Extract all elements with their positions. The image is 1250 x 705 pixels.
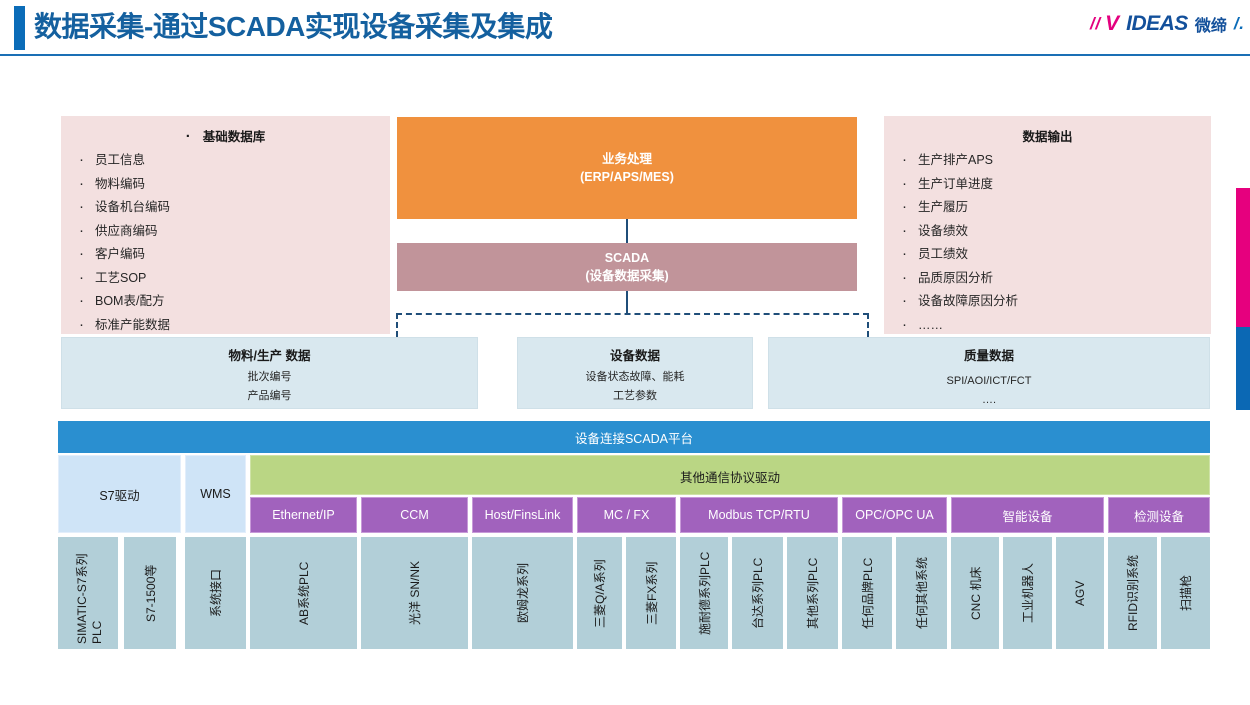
- device-cell-koyo-sn-nk[interactable]: 光洋 SN/NK: [361, 537, 468, 649]
- protocol-cell-mc-fx[interactable]: MC / FX: [577, 497, 676, 533]
- device-cell-mitsubishi-qa[interactable]: 三菱Q/A系列: [577, 537, 622, 649]
- equipment-data-title: 设备数据: [610, 345, 660, 364]
- protocol-label: Ethernet/IP: [272, 508, 335, 522]
- scada-box: SCADA (设备数据采集): [397, 243, 857, 291]
- list-item: ……: [884, 314, 1211, 338]
- data-output-list: 生产排产APS 生产订单进度 生产履历 设备绩效 员工绩效 品质原因分析 设备故…: [884, 149, 1211, 337]
- list-item: 设备绩效: [884, 220, 1211, 244]
- protocol-label: 检测设备: [1134, 506, 1184, 525]
- device-cell-rfid[interactable]: RFID识别系统: [1108, 537, 1157, 649]
- device-cell-ab-plc[interactable]: AB系统PLC: [250, 537, 357, 649]
- device-label: CNC 机床: [967, 566, 984, 619]
- base-database-title: 基础数据库: [61, 126, 390, 145]
- device-cell-other-plc[interactable]: 其他系列PLC: [787, 537, 838, 649]
- device-label: RFID识别系统: [1124, 555, 1141, 631]
- protocol-cell-smart-device[interactable]: 智能设备: [951, 497, 1104, 533]
- protocol-cell-inspection-device[interactable]: 检测设备: [1108, 497, 1210, 533]
- brand-name-cn: 微缔: [1195, 12, 1227, 36]
- list-item: 标准产能数据: [61, 314, 390, 338]
- brand-v-icon: V: [1105, 12, 1119, 36]
- protocol-cell-opc[interactable]: OPC/OPC UA: [842, 497, 947, 533]
- device-cell-schneider-plc[interactable]: 施耐德系列PLC: [680, 537, 728, 649]
- protocol-label: OPC/OPC UA: [855, 508, 934, 522]
- data-output-title: 数据输出: [884, 126, 1211, 145]
- device-cell-industrial-robot[interactable]: 工业机器人: [1003, 537, 1052, 649]
- device-label: 工业机器人: [1019, 563, 1036, 623]
- protocol-label: MC / FX: [604, 508, 650, 522]
- material-production-data-title: 物料/生产 数据: [229, 345, 311, 364]
- list-item: 员工绩效: [884, 243, 1211, 267]
- edge-accent-blue: [1236, 327, 1250, 410]
- header-accent-bar: [14, 6, 25, 50]
- connector-business-scada: [626, 219, 628, 243]
- list-item: 客户编码: [61, 243, 390, 267]
- device-label: 光洋 SN/NK: [406, 561, 423, 625]
- list-item: 供应商编码: [61, 220, 390, 244]
- device-label: 欧姆龙系列: [514, 563, 531, 623]
- device-cell-any-brand-plc[interactable]: 任何品牌PLC: [842, 537, 892, 649]
- list-item: 物料编码: [61, 173, 390, 197]
- connector-scada-bracket: [626, 291, 628, 315]
- device-cell-simatic-s7[interactable]: SIMATIC-S7系列PLC: [58, 537, 118, 649]
- list-item: 生产订单进度: [884, 173, 1211, 197]
- device-label: 施耐德系列PLC: [696, 551, 713, 634]
- wms-cell[interactable]: WMS: [185, 455, 246, 533]
- brand-slash-left-icon: / /: [1090, 14, 1098, 34]
- device-label: AGV: [1073, 580, 1087, 605]
- device-label: AB系统PLC: [295, 561, 312, 624]
- device-label: 其他系列PLC: [804, 557, 821, 628]
- list-item: 生产排产APS: [884, 149, 1211, 173]
- quality-data-line: SPI/AOI/ICT/FCT: [947, 372, 1032, 391]
- device-label: 扫描枪: [1177, 575, 1194, 611]
- protocol-label: Modbus TCP/RTU: [708, 508, 810, 522]
- base-database-list: 员工信息 物料编码 设备机台编码 供应商编码 客户编码 工艺SOP BOM表/配…: [61, 149, 390, 337]
- brand-logo: / / VIDEAS 微缔 / .: [1090, 10, 1242, 38]
- s7-driver-cell[interactable]: S7驱动: [58, 455, 181, 533]
- list-item: 生产履历: [884, 196, 1211, 220]
- device-cell-system-interface[interactable]: 系统接口: [185, 537, 246, 649]
- device-cell-cnc[interactable]: CNC 机床: [951, 537, 999, 649]
- page-title: 数据采集-通过SCADA实现设备采集及集成: [34, 6, 552, 48]
- device-label: 台达系列PLC: [749, 557, 766, 628]
- device-label: 系统接口: [207, 569, 224, 617]
- other-protocol-driver-label: 其他通信协议驱动: [680, 467, 780, 486]
- material-production-data-line: 批次编号: [248, 368, 292, 387]
- protocol-cell-modbus[interactable]: Modbus TCP/RTU: [680, 497, 838, 533]
- list-item: 设备机台编码: [61, 196, 390, 220]
- protocol-cell-ethernet-ip[interactable]: Ethernet/IP: [250, 497, 357, 533]
- scada-line1: SCADA: [605, 249, 649, 267]
- device-cell-agv[interactable]: AGV: [1056, 537, 1104, 649]
- quality-data-title: 质量数据: [964, 345, 1014, 364]
- device-cell-mitsubishi-fx[interactable]: 三菱FX系列: [626, 537, 676, 649]
- device-cell-delta-plc[interactable]: 台达系列PLC: [732, 537, 783, 649]
- data-output-panel: 数据输出 生产排产APS 生产订单进度 生产履历 设备绩效 员工绩效 品质原因分…: [884, 116, 1211, 334]
- device-label: S7-1500等: [142, 564, 159, 621]
- list-item: BOM表/配方: [61, 290, 390, 314]
- other-protocol-driver-bar: 其他通信协议驱动: [250, 455, 1210, 495]
- s7-driver-label: S7驱动: [99, 485, 139, 504]
- brand-name: IDEAS: [1126, 12, 1188, 36]
- edge-accent-pink: [1236, 188, 1250, 327]
- dashed-bracket: [396, 313, 869, 337]
- brand-slash-right-icon: / .: [1234, 14, 1242, 34]
- device-cell-any-other-system[interactable]: 任何其他系统: [896, 537, 947, 649]
- list-item: 设备故障原因分析: [884, 290, 1211, 314]
- base-database-title-text: 基础数据库: [203, 130, 266, 144]
- protocol-label: Host/FinsLink: [485, 508, 561, 522]
- base-database-panel: 基础数据库 员工信息 物料编码 设备机台编码 供应商编码 客户编码 工艺SOP …: [61, 116, 390, 334]
- business-processing-line2: (ERP/APS/MES): [580, 168, 674, 186]
- wms-label: WMS: [200, 487, 231, 501]
- device-cell-omron[interactable]: 欧姆龙系列: [472, 537, 573, 649]
- equipment-data-box: 设备数据 设备状态故障、能耗 工艺参数: [517, 337, 753, 409]
- material-production-data-box: 物料/生产 数据 批次编号 产品编号: [61, 337, 478, 409]
- quality-data-box: 质量数据 SPI/AOI/ICT/FCT ….: [768, 337, 1210, 409]
- material-production-data-line: 产品编号: [248, 387, 292, 406]
- page-header: 数据采集-通过SCADA实现设备采集及集成 / / VIDEAS 微缔 / .: [0, 0, 1250, 56]
- protocol-cell-ccm[interactable]: CCM: [361, 497, 468, 533]
- business-processing-line1: 业务处理: [602, 150, 652, 168]
- list-item: 工艺SOP: [61, 267, 390, 291]
- business-processing-box: 业务处理 (ERP/APS/MES): [397, 117, 857, 219]
- scada-line2: (设备数据采集): [585, 267, 668, 285]
- list-item: 品质原因分析: [884, 267, 1211, 291]
- protocol-label: CCM: [400, 508, 428, 522]
- equipment-data-line: 工艺参数: [613, 387, 657, 406]
- list-item: 员工信息: [61, 149, 390, 173]
- device-label: 三菱Q/A系列: [591, 559, 608, 628]
- quality-data-line: ….: [982, 391, 996, 410]
- equipment-data-line: 设备状态故障、能耗: [586, 368, 685, 387]
- device-label: SIMATIC-S7系列PLC: [73, 542, 104, 644]
- scada-platform-label: 设备连接SCADA平台: [575, 428, 693, 447]
- device-cell-scanner[interactable]: 扫描枪: [1161, 537, 1210, 649]
- device-cell-s7-1500[interactable]: S7-1500等: [124, 537, 176, 649]
- protocol-label: 智能设备: [1002, 506, 1052, 525]
- device-label: 任何品牌PLC: [859, 557, 876, 628]
- device-label: 任何其他系统: [913, 557, 930, 629]
- scada-platform-bar: 设备连接SCADA平台: [58, 421, 1210, 453]
- protocol-cell-host-finslink[interactable]: Host/FinsLink: [472, 497, 573, 533]
- device-label: 三菱FX系列: [643, 561, 660, 624]
